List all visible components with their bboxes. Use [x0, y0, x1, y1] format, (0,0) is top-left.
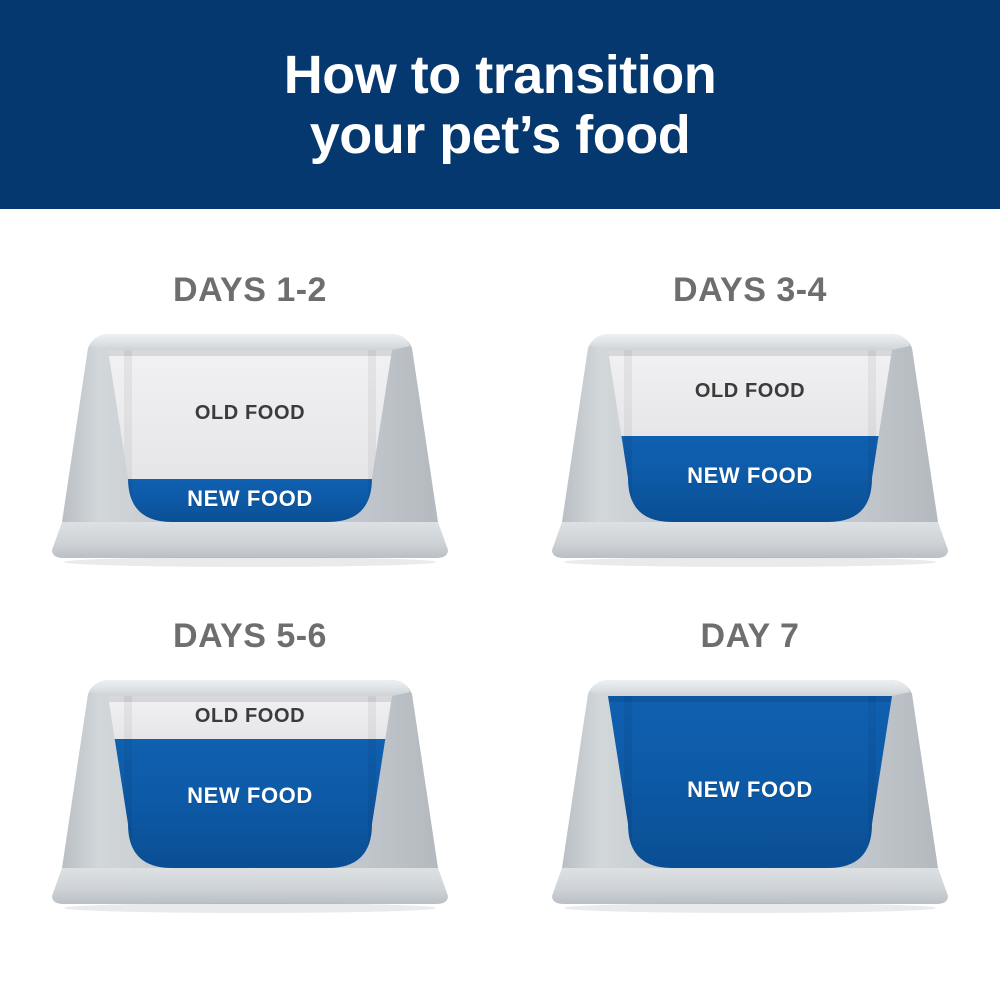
bowl-base [552, 522, 948, 558]
bowl-base [52, 522, 448, 558]
panel-label-day-7: DAY 7 [701, 617, 800, 655]
cavity-top-shade [50, 696, 450, 702]
bowl-day-7: NEW FOOD [550, 672, 950, 920]
ground-shadow [64, 557, 436, 567]
panel-label-days-5-6: DAYS 5-6 [173, 617, 327, 655]
bowl-rim [590, 334, 910, 350]
bowl-graphic [550, 672, 950, 920]
ground-shadow [64, 903, 436, 913]
panel-days-1-2: DAYS 1-2 [0, 209, 500, 589]
ground-shadow [564, 557, 936, 567]
cavity-top-shade [550, 350, 950, 356]
bowl-rim [590, 680, 910, 696]
bowl-days-5-6: OLD FOODNEW FOOD [50, 672, 450, 920]
bowl-graphic [550, 326, 950, 574]
cavity-top-shade [550, 696, 950, 702]
transition-steps-grid: DAYS 1-2 [0, 209, 1000, 1000]
infographic-page: How to transition your pet’s food DAYS 1… [0, 0, 1000, 1000]
bowl-graphic [50, 326, 450, 574]
ground-shadow [564, 903, 936, 913]
bowl-graphic [50, 672, 450, 920]
panel-label-days-3-4: DAYS 3-4 [673, 271, 827, 309]
bowl-base [52, 868, 448, 904]
page-title-line-1: How to transition [284, 45, 716, 105]
bowl-rim [90, 680, 410, 696]
panel-day-7: DAY 7 [500, 589, 1000, 969]
header-banner: How to transition your pet’s food [0, 0, 1000, 209]
bowl-base [552, 868, 948, 904]
bowl-days-1-2: OLD FOODNEW FOOD [50, 326, 450, 574]
cavity-top-shade [50, 350, 450, 356]
panel-days-3-4: DAYS 3-4 [500, 209, 1000, 589]
panel-days-5-6: DAYS 5-6 [0, 589, 500, 969]
bowl-days-3-4: OLD FOODNEW FOOD [550, 326, 950, 574]
panel-label-days-1-2: DAYS 1-2 [173, 271, 327, 309]
page-title-line-2: your pet’s food [310, 105, 691, 165]
bowl-rim [90, 334, 410, 350]
